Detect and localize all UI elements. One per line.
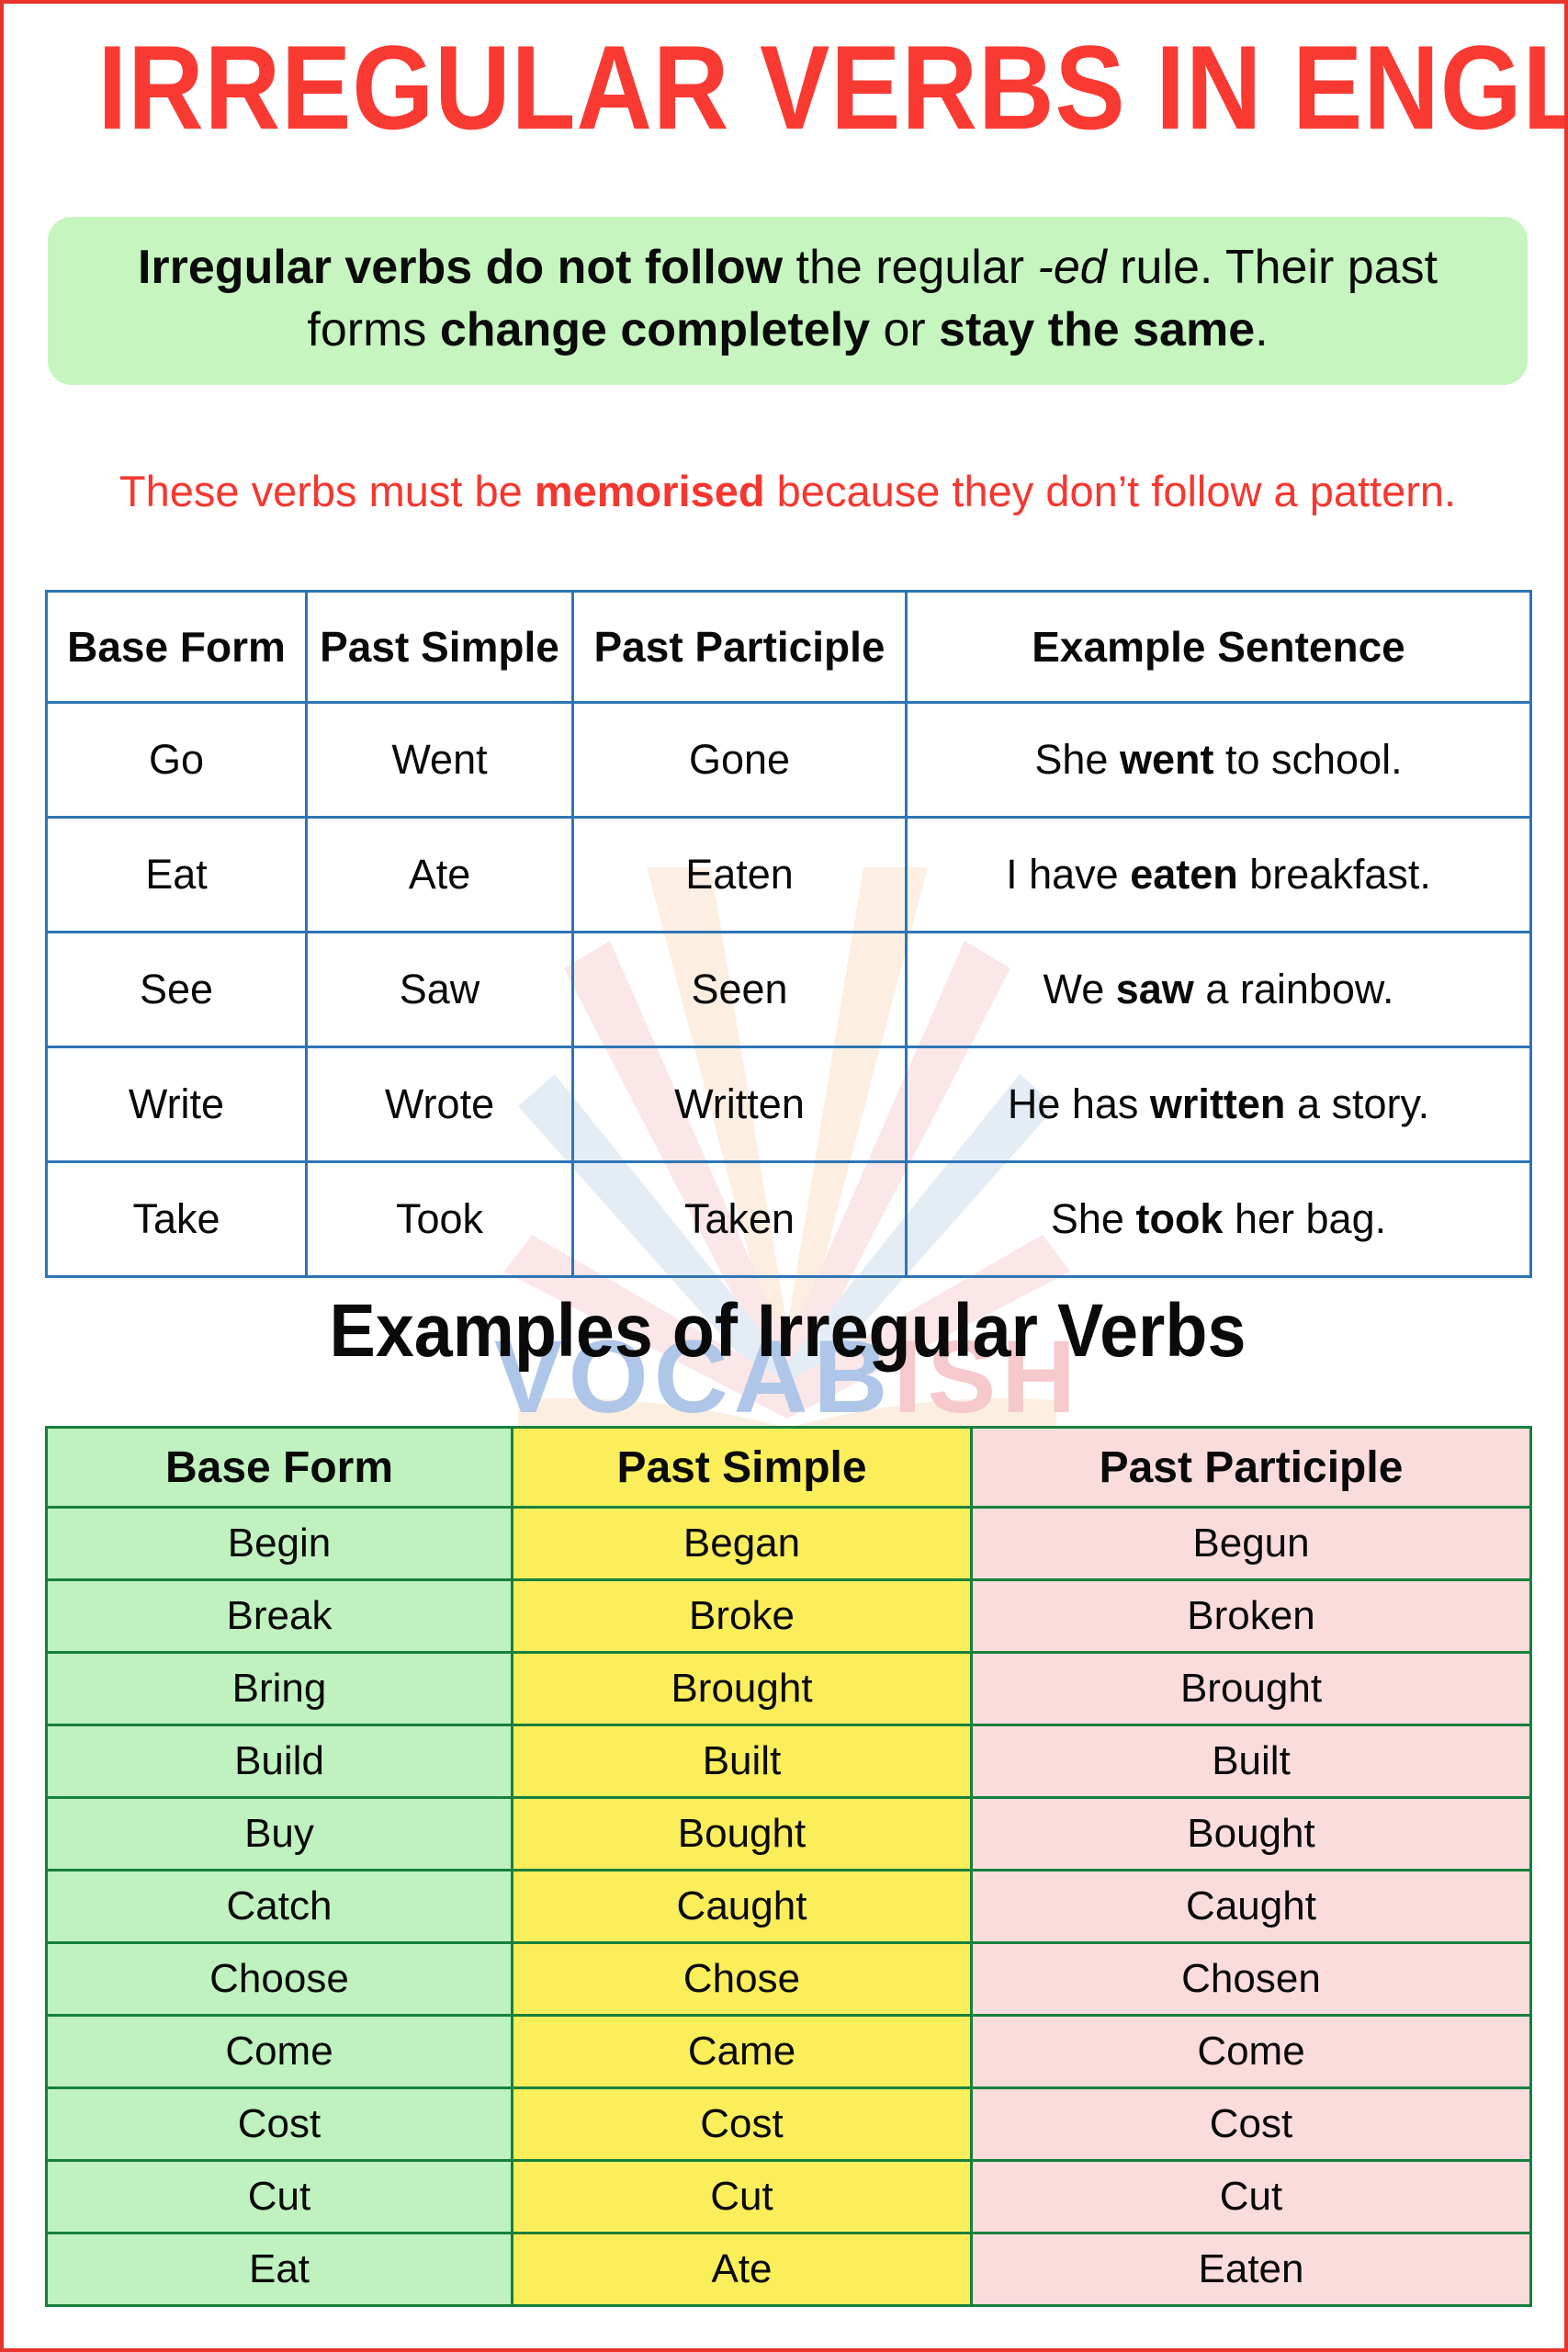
verb-forms-table: Base Form Past Simple Past Participle Ex… <box>45 590 1532 1278</box>
table-row: Take Took Taken She took her bag. <box>47 1162 1531 1277</box>
t1-cell-past: Saw <box>307 933 573 1047</box>
t2-cell-participle: Come <box>972 2016 1531 2088</box>
t2-cell-participle: Broken <box>972 1580 1531 1653</box>
t1-cell-past: Ate <box>307 818 573 933</box>
t1-header-example: Example Sentence <box>907 592 1531 703</box>
table-row: Come Came Come <box>47 2016 1531 2088</box>
callout-bold-change: change completely <box>440 303 870 356</box>
ex-post: a rainbow. <box>1194 966 1394 1012</box>
note-post: because they don’t follow a pattern. <box>765 467 1456 515</box>
t2-cell-base: Begin <box>47 1508 513 1580</box>
note-bold: memorised <box>535 467 765 515</box>
t2-cell-past: Began <box>513 1508 972 1580</box>
callout-ed-italic: -ed <box>1038 241 1107 294</box>
t2-cell-base: Cut <box>47 2161 513 2233</box>
t2-cell-base: Build <box>47 1725 513 1798</box>
ex-post: breakfast. <box>1238 851 1431 898</box>
table-row: Choose Chose Chosen <box>47 1943 1531 2016</box>
t2-cell-participle: Brought <box>972 1653 1531 1725</box>
t2-cell-past: Brought <box>513 1653 972 1725</box>
t1-cell-base: Take <box>47 1162 307 1277</box>
t1-cell-participle: Taken <box>573 1162 907 1277</box>
table-row: Eat Ate Eaten <box>47 2233 1531 2306</box>
ex-pre: She <box>1034 736 1120 783</box>
t2-cell-past: Cut <box>513 2161 972 2233</box>
t1-cell-base: Eat <box>47 818 307 933</box>
t2-cell-past: Caught <box>513 1871 972 1943</box>
table-row: Cost Cost Cost <box>47 2088 1531 2161</box>
t1-cell-base: Write <box>47 1047 307 1162</box>
ex-bold: took <box>1135 1195 1223 1242</box>
section-heading: Examples of Irregular Verbs <box>66 1288 1508 1374</box>
ex-bold: went <box>1120 736 1214 783</box>
table-row: Cut Cut Cut <box>47 2161 1531 2233</box>
t2-header-base: Base Form <box>47 1428 513 1508</box>
table-header-row: Base Form Past Simple Past Participle Ex… <box>47 592 1531 703</box>
t2-cell-participle: Eaten <box>972 2233 1531 2306</box>
page-title: IRREGULAR VERBS IN ENGLISH <box>97 28 1477 147</box>
table-row: Catch Caught Caught <box>47 1871 1531 1943</box>
t2-cell-participle: Chosen <box>972 1943 1531 2016</box>
t2-cell-participle: Bought <box>972 1798 1531 1871</box>
t1-cell-participle: Written <box>573 1047 907 1162</box>
t1-header-base: Base Form <box>47 592 307 703</box>
table-row: Write Wrote Written He has written a sto… <box>47 1047 1531 1162</box>
table-row: Bring Brought Brought <box>47 1653 1531 1725</box>
ex-bold: written <box>1150 1080 1286 1127</box>
t1-header-past-simple: Past Simple <box>307 592 573 703</box>
callout-tail: . <box>1255 303 1268 356</box>
t2-cell-past: Bought <box>513 1798 972 1871</box>
memorise-note: These verbs must be memorised because th… <box>4 468 1568 515</box>
table-row: Buy Bought Bought <box>47 1798 1531 1871</box>
t2-cell-participle: Cut <box>972 2161 1531 2233</box>
irregular-verbs-list-table: Base Form Past Simple Past Participle Be… <box>45 1426 1532 2307</box>
t1-cell-past: Wrote <box>307 1047 573 1162</box>
t2-cell-base: Catch <box>47 1871 513 1943</box>
t2-cell-base: Break <box>47 1580 513 1653</box>
t2-cell-past: Built <box>513 1725 972 1798</box>
table-row: See Saw Seen We saw a rainbow. <box>47 933 1531 1047</box>
poster-page: VOCABISH IRREGULAR VERBS IN ENGLISH Irre… <box>0 0 1568 2352</box>
callout-mid3: or <box>870 303 939 356</box>
t1-cell-example: We saw a rainbow. <box>907 933 1531 1047</box>
note-pre: These verbs must be <box>119 467 535 515</box>
table-row: Go Went Gone She went to school. <box>47 703 1531 818</box>
t1-cell-participle: Gone <box>573 703 907 818</box>
t2-cell-participle: Cost <box>972 2088 1531 2161</box>
ex-post: her bag. <box>1223 1195 1386 1242</box>
t2-cell-base: Cost <box>47 2088 513 2161</box>
table-row: Break Broke Broken <box>47 1580 1531 1653</box>
table-row: Begin Began Begun <box>47 1508 1531 1580</box>
t1-cell-past: Took <box>307 1162 573 1277</box>
definition-callout: Irregular verbs do not follow the regula… <box>48 217 1528 385</box>
ex-post: a story. <box>1285 1080 1429 1127</box>
ex-pre: We <box>1043 966 1116 1012</box>
ex-bold: eaten <box>1130 851 1238 898</box>
t1-cell-example: She took her bag. <box>907 1162 1531 1277</box>
t2-cell-base: Choose <box>47 1943 513 2016</box>
t2-cell-participle: Built <box>972 1725 1531 1798</box>
t2-cell-base: Bring <box>47 1653 513 1725</box>
t2-cell-past: Came <box>513 2016 972 2088</box>
table-row: Build Built Built <box>47 1725 1531 1798</box>
t2-header-past-simple: Past Simple <box>513 1428 972 1508</box>
ex-pre: She <box>1051 1195 1136 1242</box>
t1-cell-base: Go <box>47 703 307 818</box>
t1-cell-example: She went to school. <box>907 703 1531 818</box>
t1-cell-past: Went <box>307 703 573 818</box>
t1-header-past-participle: Past Participle <box>573 592 907 703</box>
t2-cell-base: Come <box>47 2016 513 2088</box>
t2-cell-participle: Caught <box>972 1871 1531 1943</box>
ex-post: to school. <box>1213 736 1402 783</box>
t2-cell-participle: Begun <box>972 1508 1531 1580</box>
table-header-row: Base Form Past Simple Past Participle <box>47 1428 1531 1508</box>
t2-header-past-participle: Past Participle <box>972 1428 1531 1508</box>
t2-cell-base: Buy <box>47 1798 513 1871</box>
t2-cell-past: Cost <box>513 2088 972 2161</box>
ex-bold: saw <box>1116 966 1194 1012</box>
callout-lead-bold: Irregular verbs do not follow <box>138 241 783 294</box>
ex-pre: He has <box>1008 1080 1150 1127</box>
table-row: Eat Ate Eaten I have eaten breakfast. <box>47 818 1531 933</box>
t2-cell-past: Broke <box>513 1580 972 1653</box>
t2-cell-past: Chose <box>513 1943 972 2016</box>
t1-cell-example: I have eaten breakfast. <box>907 818 1531 933</box>
callout-mid1: the regular <box>783 241 1038 294</box>
t1-cell-participle: Seen <box>573 933 907 1047</box>
t1-cell-base: See <box>47 933 307 1047</box>
t1-cell-participle: Eaten <box>573 818 907 933</box>
callout-bold-same: stay the same <box>939 303 1255 356</box>
ex-pre: I have <box>1006 851 1130 898</box>
t2-cell-base: Eat <box>47 2233 513 2306</box>
t1-cell-example: He has written a story. <box>907 1047 1531 1162</box>
t2-cell-past: Ate <box>513 2233 972 2306</box>
